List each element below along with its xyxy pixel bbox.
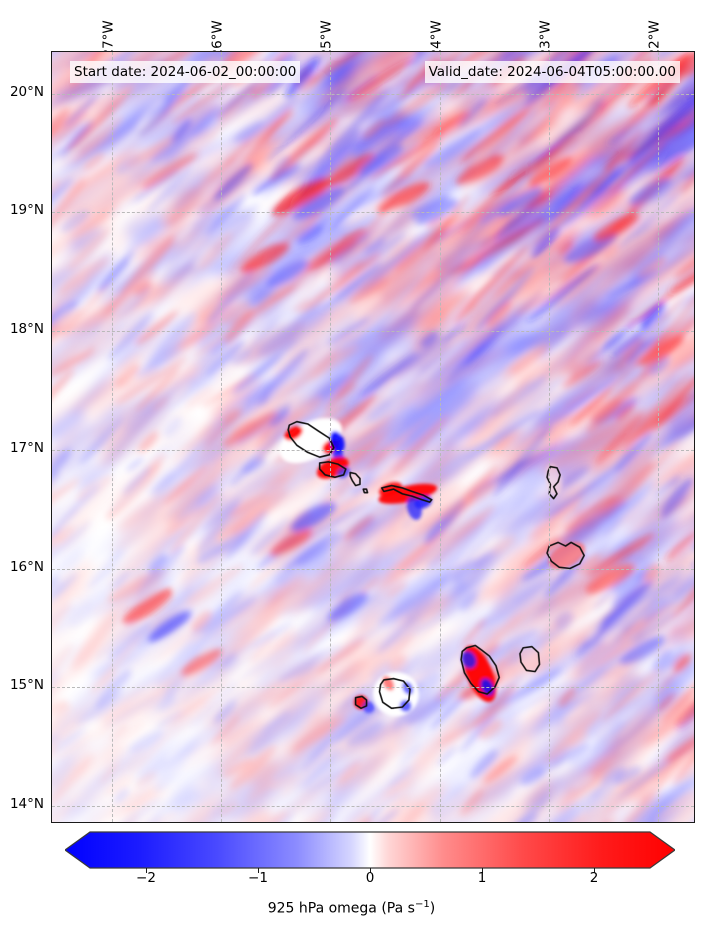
y-tick-label: 18°N [0,323,44,337]
y-tick-label: 14°N [0,798,44,812]
omega-heatmap-field [52,52,694,822]
map-plot-area[interactable]: Start date: 2024-06-02_00:00:00 Valid_da… [51,51,695,823]
y-tick-label: 16°N [0,561,44,575]
start-date-stamp: Start date: 2024-06-02_00:00:00 [70,61,300,83]
colorbar-region: −2−1012 925 hPa omega (Pa s−1) [0,828,703,936]
colorbar-tick-label: 2 [590,872,599,886]
y-tick-label: 20°N [0,86,44,100]
y-tick-label: 19°N [0,204,44,218]
colorbar-units-exponent: −1 [415,899,430,910]
colorbar-title: 925 hPa omega (Pa s−1) [0,900,703,916]
colorbar[interactable] [65,830,675,870]
colorbar-tick-label: 1 [478,872,487,886]
y-tick-label: 17°N [0,442,44,456]
valid-date-stamp: Valid_date: 2024-06-04T05:00:00.00 [425,61,680,83]
figure-canvas: 27°W26°W25°W24°W23°W22°W 14°N15°N16°N17°… [0,0,703,936]
y-tick-label: 15°N [0,679,44,693]
colorbar-tick-label: −2 [136,872,156,886]
colorbar-tick-label: −1 [248,872,268,886]
colorbar-tick-label: 0 [366,872,375,886]
